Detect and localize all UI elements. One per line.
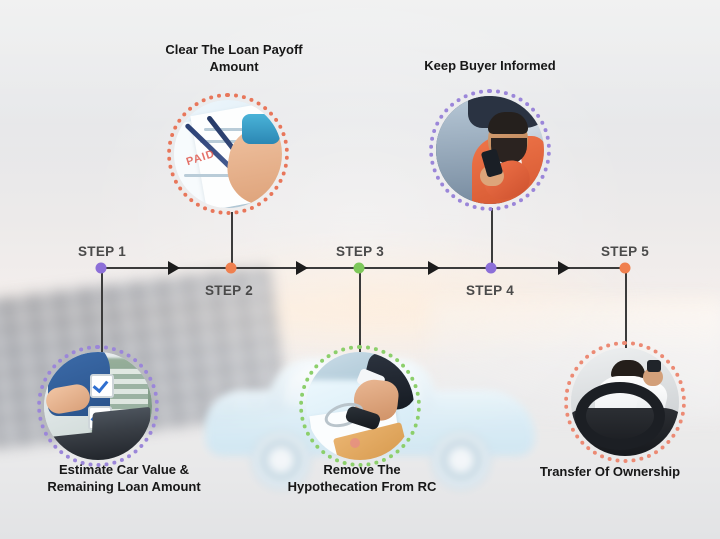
- timeline-arrow-3: [428, 261, 440, 275]
- caption-step-5: Transfer Of Ownership: [490, 463, 720, 480]
- step-label-1: STEP 1: [78, 244, 126, 259]
- caption-step-3: Remove The Hypothecation From RC: [242, 461, 482, 495]
- node-step-2[interactable]: PAID: [174, 100, 282, 208]
- connector-step-2: [231, 212, 233, 268]
- node-step-3[interactable]: [306, 352, 414, 460]
- timeline-dot-step-3[interactable]: [354, 263, 365, 274]
- node-step-1[interactable]: [44, 352, 152, 460]
- caption-step-2: Clear The Loan Payoff Amount: [114, 41, 354, 75]
- timeline-dot-step-5[interactable]: [620, 263, 631, 274]
- timeline-dot-step-2[interactable]: [226, 263, 237, 274]
- timeline-arrow-2: [296, 261, 308, 275]
- step-label-2: STEP 2: [205, 283, 253, 298]
- connector-step-1: [101, 268, 103, 356]
- timeline-dot-step-1[interactable]: [96, 263, 107, 274]
- photo-step-5: [571, 348, 679, 456]
- timeline-arrow-1: [168, 261, 180, 275]
- caption-step-4: Keep Buyer Informed: [370, 57, 610, 74]
- photo-step-3: [306, 352, 414, 460]
- photo-step-1: [44, 352, 152, 460]
- connector-step-3: [359, 268, 361, 356]
- photo-step-2: PAID: [174, 100, 282, 208]
- connector-step-4: [491, 208, 493, 268]
- step-label-4: STEP 4: [466, 283, 514, 298]
- step-label-5: STEP 5: [601, 244, 649, 259]
- timeline-arrow-4: [558, 261, 570, 275]
- connector-step-5: [625, 268, 627, 352]
- step-label-3: STEP 3: [336, 244, 384, 259]
- timeline-dot-step-4[interactable]: [486, 263, 497, 274]
- node-step-5[interactable]: [571, 348, 679, 456]
- infographic-canvas: STEP 1 STEP 2 STEP 3 STEP 4 STEP 5 PAID …: [0, 0, 720, 539]
- caption-step-1: Estimate Car Value & Remaining Loan Amou…: [4, 461, 244, 495]
- photo-step-4: [436, 96, 544, 204]
- node-step-4[interactable]: [436, 96, 544, 204]
